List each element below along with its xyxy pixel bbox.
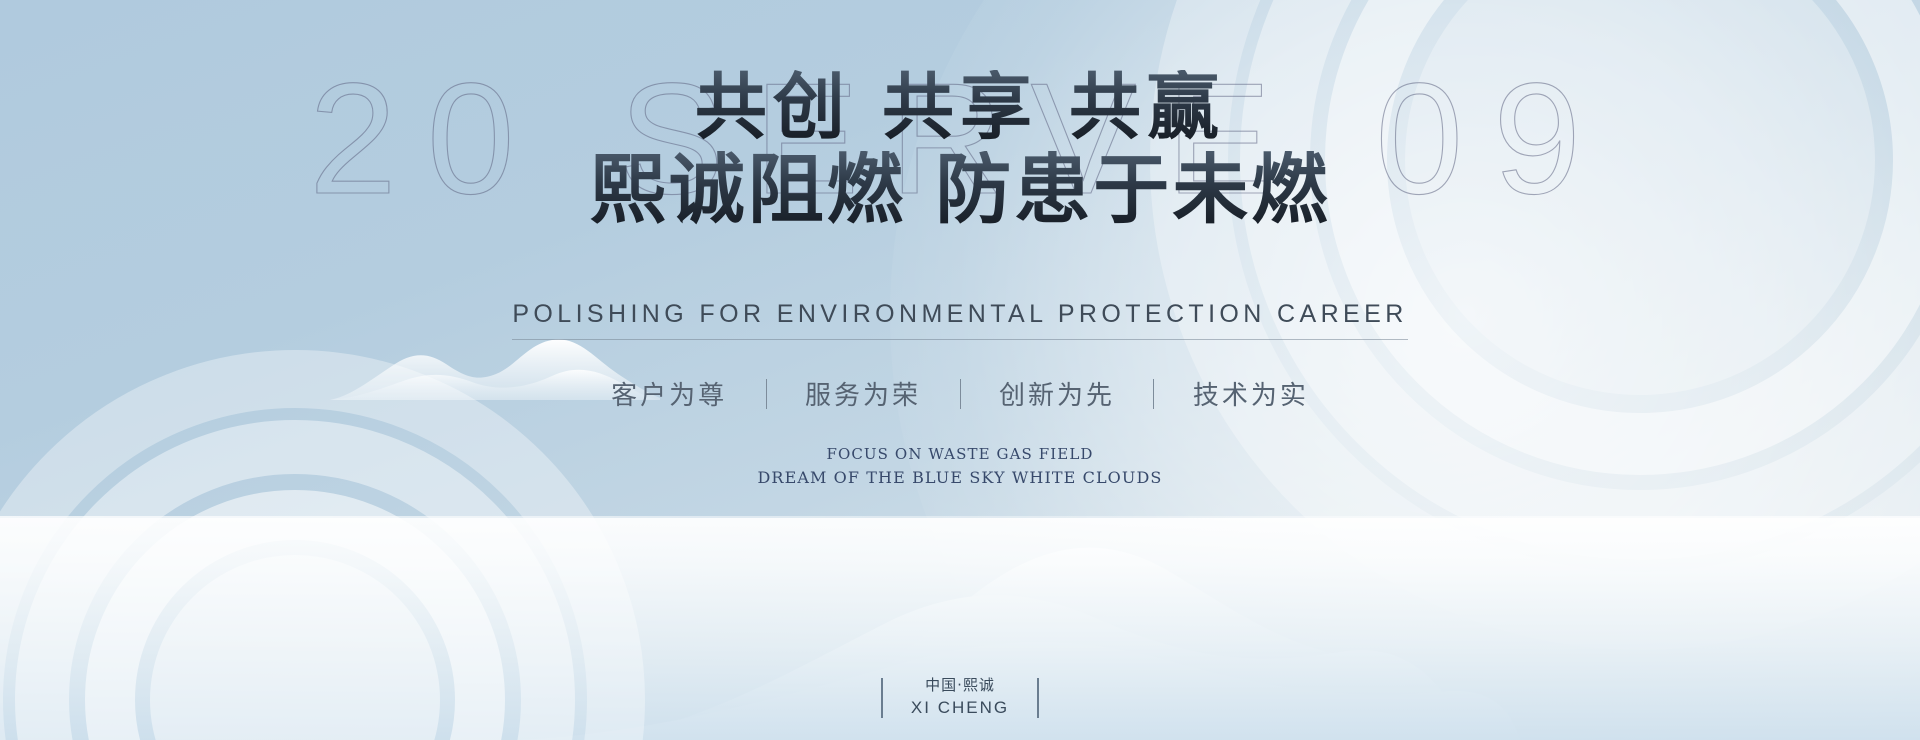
serif-line-2: DREAM OF THE BLUE SKY WHITE CLOUDS [0, 466, 1920, 489]
brand-logo: 中国·熙诚 XI CHENG [0, 675, 1920, 720]
slogan-row: 客户为尊 服务为荣 创新为先 技术为实 [0, 375, 1920, 412]
serif-sub-block: FOCUS ON WASTE GAS FIELD DREAM OF THE BL… [0, 444, 1920, 489]
english-tagline-wrap: POLISHING FOR ENVIRONMENTAL PROTECTION C… [0, 300, 1920, 340]
headline-block: 共创 共享 共赢 熙诚阻燃 防患于未燃 [0, 70, 1920, 229]
slogan-item-3: 创新为先 [999, 375, 1115, 412]
serif-line-1: FOCUS ON WASTE GAS FIELD [0, 444, 1920, 466]
logo-bar-left [881, 678, 883, 718]
logo-en: XI CHENG [911, 698, 1009, 717]
slogan-separator-1 [766, 379, 767, 409]
headline-line-2: 熙诚阻燃 防患于未燃 [0, 151, 1920, 229]
english-tagline: POLISHING FOR ENVIRONMENTAL PROTECTION C… [512, 300, 1407, 340]
slogan-separator-2 [960, 379, 961, 409]
slogan-item-2: 服务为荣 [805, 375, 921, 412]
slogan-item-1: 客户为尊 [611, 375, 727, 412]
slogan-item-4: 技术为实 [1193, 375, 1309, 412]
logo-cn: 中国·熙诚 [925, 676, 995, 694]
logo-bar-right [1037, 678, 1039, 718]
headline-line-1: 共创 共享 共赢 [0, 70, 1920, 143]
promo-banner: 20 SERVE 09 共创 共享 共赢 熙诚阻燃 防患于未燃 POLISHIN… [0, 0, 1920, 740]
slogan-separator-3 [1153, 379, 1154, 409]
logo-text: 中国·熙诚 XI CHENG [911, 675, 1009, 720]
